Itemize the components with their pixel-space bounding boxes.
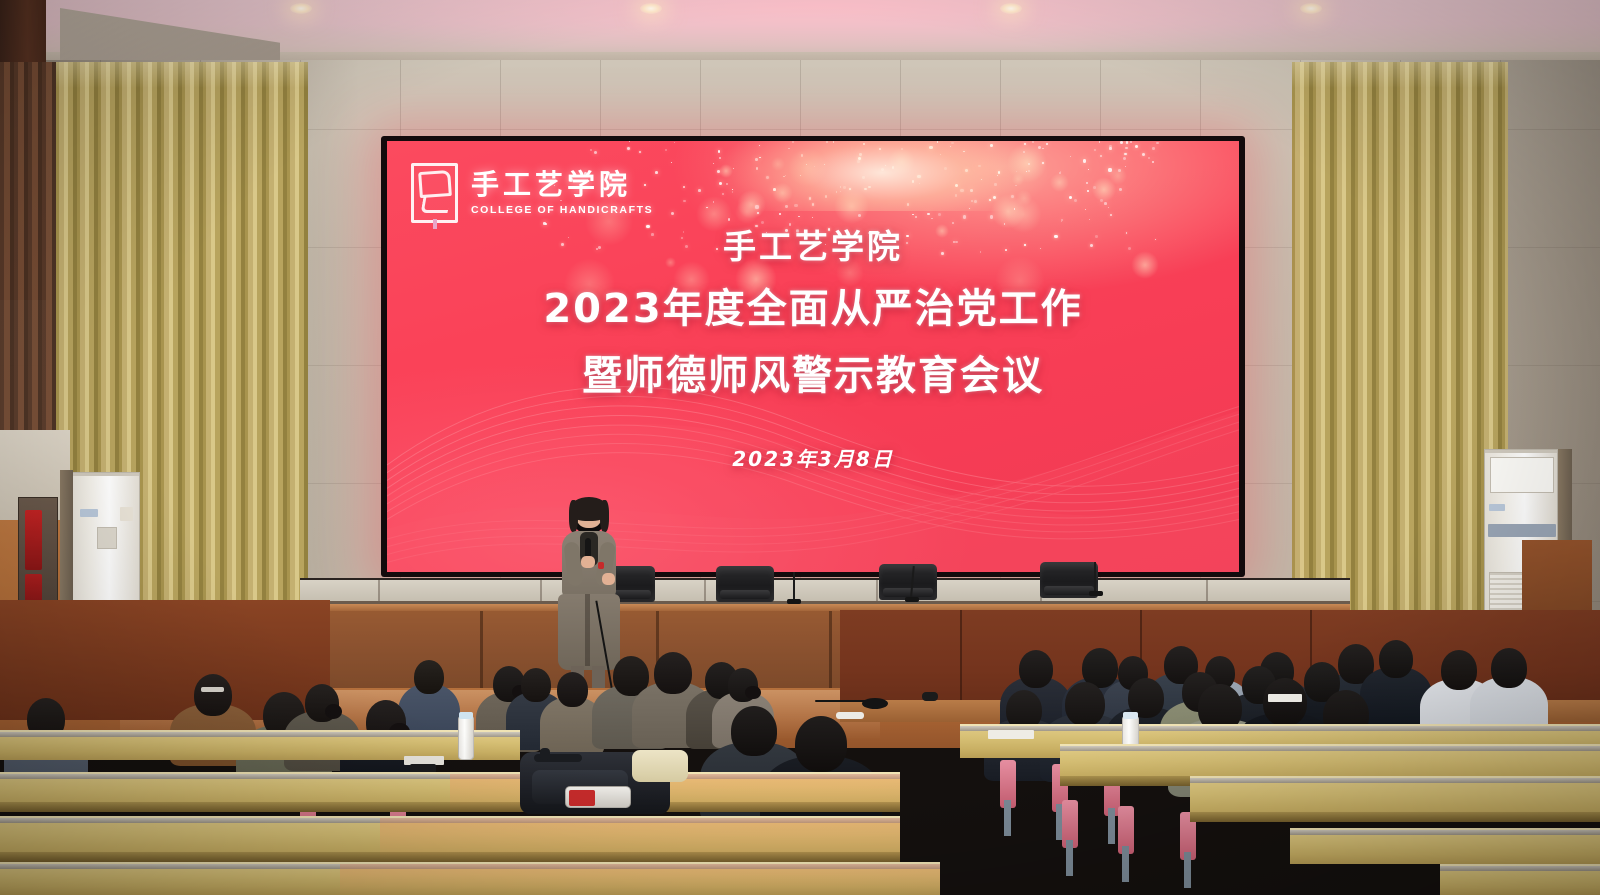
college-logo-text: 手工艺学院 COLLEGE OF HANDICRAFTS [471, 170, 653, 215]
sparkle-particle [1123, 157, 1126, 160]
sparkle-particle [1085, 209, 1086, 210]
speaker-hand [581, 556, 595, 568]
bench-edge [1190, 778, 1600, 783]
title-line-2: 2023年度全面从严治党工作 [387, 283, 1239, 337]
sparkle-particle [1093, 186, 1096, 189]
bench-highlight [340, 864, 940, 895]
sparkle-particle [1061, 221, 1062, 222]
sparkle-particle [779, 213, 781, 215]
sparkle-particle [1125, 166, 1126, 167]
av-device-2 [922, 692, 938, 701]
seat-leg [1122, 846, 1129, 882]
audience-member-head [795, 716, 847, 772]
bench-under [1190, 812, 1600, 822]
sparkle-particle [683, 200, 686, 203]
sparkle-particle [952, 222, 954, 224]
sparkle-particle [1118, 169, 1121, 172]
sparkle-particle [674, 142, 675, 143]
downlight-1 [290, 3, 312, 14]
sparkle-particle [1110, 214, 1112, 216]
audience-member-head [1379, 640, 1413, 678]
sparkle-particle [1100, 155, 1103, 158]
sparkle-particle [1142, 153, 1145, 156]
sparkle-particle [1108, 207, 1109, 208]
bench-edge [1060, 746, 1600, 751]
sparkle-particle [1104, 202, 1107, 205]
backpack-handle [540, 748, 550, 760]
college-seal-emblem-icon [411, 163, 458, 223]
ac-left-top [73, 473, 139, 476]
sparkle-particle [683, 186, 685, 188]
sparkle-particle [713, 163, 714, 164]
bench-under [0, 852, 900, 862]
sparkle-particle [1070, 156, 1071, 157]
sparkle-particle [990, 215, 993, 218]
sparkle-particle [1124, 153, 1127, 156]
sparkle-particle [655, 171, 658, 174]
hair-band [201, 687, 225, 692]
stage-mic-base-2 [905, 597, 919, 602]
bench-edge [1440, 866, 1600, 871]
ac-right-strip [1488, 524, 1556, 537]
sparkle-particle [665, 149, 666, 150]
meeting-date: 2023年3月8日 [387, 443, 1239, 472]
sparkle-particle [798, 216, 799, 217]
curtain-top-left [56, 62, 308, 88]
downlight-4 [1300, 3, 1322, 14]
sparkle-particle [1148, 157, 1150, 159]
sparkle-particle [1130, 141, 1132, 143]
bokeh-particle [1050, 173, 1068, 191]
sparkle-particle [627, 147, 630, 150]
stage-microphone-1 [793, 572, 795, 600]
curtain-top-right [1292, 62, 1508, 88]
sparkle-particle [1152, 147, 1155, 150]
ac-left-label [80, 509, 98, 517]
audience-member-head [1065, 682, 1105, 726]
sparkle-particle [858, 214, 861, 217]
audience-member-head [557, 672, 588, 707]
sparkle-particle [812, 217, 813, 218]
sparkle-particle [590, 149, 592, 151]
bench-edge [0, 732, 520, 737]
ac-left-display [97, 527, 117, 549]
bottle-cap-2 [1123, 712, 1138, 719]
ceiling-glow [250, 0, 1400, 58]
sparkle-particle [594, 151, 597, 154]
sparkle-particle [938, 213, 941, 216]
stage-chair-3 [879, 564, 937, 600]
sparkle-particle [1074, 199, 1077, 202]
sparkle-particle [1108, 168, 1111, 171]
sparkle-particle [1125, 147, 1127, 149]
stage-chair-2 [716, 566, 774, 602]
sparkle-particle [1156, 142, 1158, 144]
sparkle-particle [713, 201, 714, 202]
sparkle-particle [915, 216, 917, 218]
bench-row-0-left [0, 862, 940, 895]
sparkle-particle [1099, 141, 1101, 143]
speaker-hair-right [600, 500, 609, 532]
sparkle-particle [671, 162, 672, 163]
sparkle-particle [706, 207, 708, 209]
av-adapter [836, 712, 864, 719]
bench-row-2-left [0, 772, 900, 812]
college-logo: 手工艺学院 COLLEGE OF HANDICRAFTS [411, 163, 653, 223]
seat-leg [1184, 852, 1191, 888]
sparkle-particle [698, 189, 701, 192]
sparkle-particle [912, 214, 914, 216]
sparkle-particle [1100, 199, 1103, 202]
sparkle-particle [1061, 219, 1063, 221]
speaker-hair-left [569, 500, 578, 532]
bench-row-1-right [1190, 776, 1600, 822]
title-line-1: 手工艺学院 [387, 225, 1239, 269]
sparkle-particle [927, 213, 929, 215]
sparkle-particle [629, 141, 630, 142]
bokeh-particle [1092, 177, 1116, 201]
seat-leg [1004, 800, 1011, 836]
title-line-3: 暨师德师风警示教育会议 [387, 350, 1239, 404]
notebook-3[interactable] [988, 730, 1034, 739]
bench-row-1-left [0, 816, 900, 862]
sparkle-particle [1089, 219, 1090, 220]
sparkle-particle [639, 151, 641, 153]
led-screen: 手工艺学院 COLLEGE OF HANDICRAFTS 手工艺学院 2023年… [381, 136, 1245, 577]
ac-right-top [1485, 450, 1557, 453]
bench-under [0, 802, 900, 812]
ac-left-badge [120, 507, 133, 521]
sparkle-glow-cluster [717, 141, 1047, 211]
audience-member-head [414, 660, 444, 694]
sparkle-particle [1119, 188, 1122, 191]
audience-member-head [194, 674, 232, 716]
bench-row-0-far-right [1440, 864, 1600, 895]
sparkle-particle [1109, 147, 1112, 150]
fire-extinguisher-icon [25, 510, 42, 570]
sparkle-particle [1088, 169, 1089, 170]
sparkle-particle [1126, 141, 1129, 144]
ac-right-label [1489, 504, 1505, 511]
bench-edge [960, 726, 1600, 731]
seat-leg [1108, 808, 1115, 844]
sparkle-particle [757, 212, 758, 213]
sparkle-particle [1083, 159, 1086, 162]
speaker-badge [598, 562, 604, 569]
speaker-skirt-fold [585, 594, 590, 666]
sparkle-particle [1086, 182, 1087, 183]
bench-edge [1290, 830, 1600, 835]
sparkle-particle [671, 212, 674, 215]
bench-row-0-right [1290, 828, 1600, 864]
cloth-bag[interactable] [632, 750, 688, 782]
sparkle-particle [1135, 145, 1138, 148]
college-name-en: COLLEGE OF HANDICRAFTS [471, 204, 653, 216]
water-bottle-1[interactable] [458, 716, 474, 760]
bottle-label [569, 790, 595, 806]
sparkle-particle [1152, 161, 1154, 163]
seat-leg [1066, 840, 1073, 876]
av-device [862, 698, 888, 709]
notebook-4[interactable] [1268, 694, 1302, 702]
downlight-3 [1000, 3, 1022, 14]
downlight-2 [640, 3, 662, 14]
screen-titles: 手工艺学院 2023年度全面从严治党工作 暨师德师风警示教育会议 2023年3月… [387, 225, 1239, 472]
college-name-cn: 手工艺学院 [471, 170, 653, 199]
sparkle-particle [728, 218, 730, 220]
conference-hall-scene: 手工艺学院 COLLEGE OF HANDICRAFTS 手工艺学院 2023年… [0, 0, 1600, 895]
sparkle-particle [1087, 190, 1089, 192]
ac-right-upper-panel [1490, 457, 1554, 493]
audience-member-head [1491, 648, 1527, 688]
sparkle-particle [963, 215, 966, 218]
sparkle-particle [931, 218, 932, 219]
led-screen-content: 手工艺学院 COLLEGE OF HANDICRAFTS 手工艺学院 2023年… [387, 141, 1239, 572]
sparkle-particle [1069, 196, 1072, 199]
sparkle-particle [1120, 141, 1123, 144]
stage-microphone-3 [1094, 562, 1096, 592]
stage-back-band [300, 578, 1350, 604]
bottle-cap-1 [459, 712, 473, 719]
sparkle-particle [1094, 149, 1097, 152]
speaker-hand-2 [602, 573, 615, 585]
side-water-bottle[interactable] [565, 786, 631, 808]
sparkle-particle [1059, 172, 1061, 174]
stage-mic-base-3 [1089, 591, 1103, 596]
